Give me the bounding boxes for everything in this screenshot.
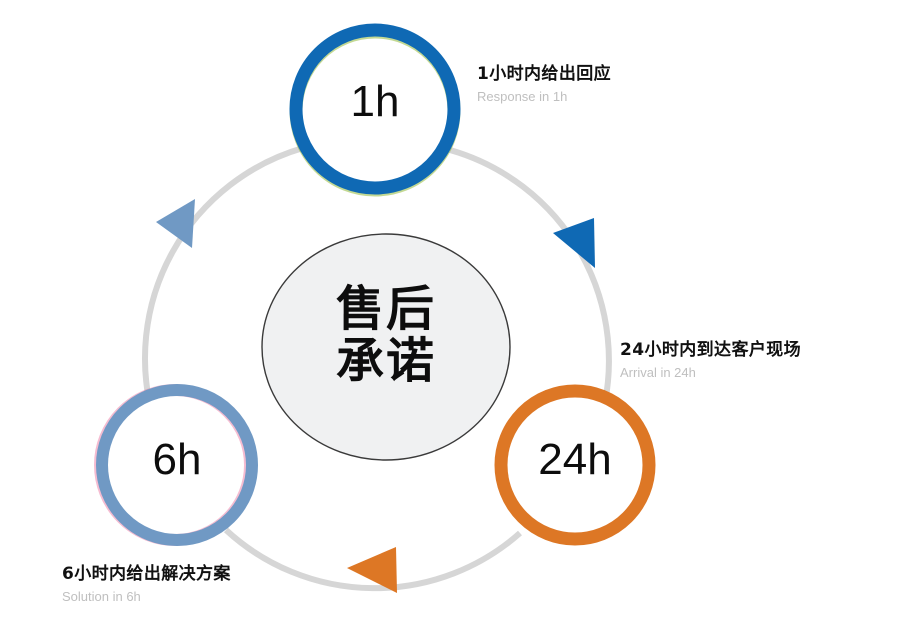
callout-node-6h: 6小时内给出解决方案 Solution in 6h	[62, 564, 231, 607]
callout-1h-subtitle: Response in 1h	[477, 88, 611, 107]
node-24h-value: 24h	[495, 438, 655, 482]
callout-node-24h: 24小时内到达客户现场 Arrival in 24h	[620, 340, 801, 383]
callout-1h-title: 1小时内给出回应	[477, 64, 611, 85]
callout-24h-subtitle: Arrival in 24h	[620, 364, 801, 383]
diagram-canvas: 1h 24h 6h 售后 承诺 1小时内给出回应 Response in 1h …	[0, 0, 900, 635]
callout-6h-subtitle: Solution in 6h	[62, 588, 231, 607]
callout-node-1h: 1小时内给出回应 Response in 1h	[477, 64, 611, 107]
node-1h-value: 1h	[288, 80, 462, 124]
center-label-line1: 售后	[262, 284, 510, 336]
center-label: 售后 承诺	[262, 284, 510, 388]
callout-24h-title: 24小时内到达客户现场	[620, 340, 801, 361]
callout-6h-title: 6小时内给出解决方案	[62, 564, 231, 585]
center-label-line2: 承诺	[262, 336, 510, 388]
arrow-left-icon	[156, 199, 195, 248]
node-6h-value: 6h	[97, 438, 257, 482]
